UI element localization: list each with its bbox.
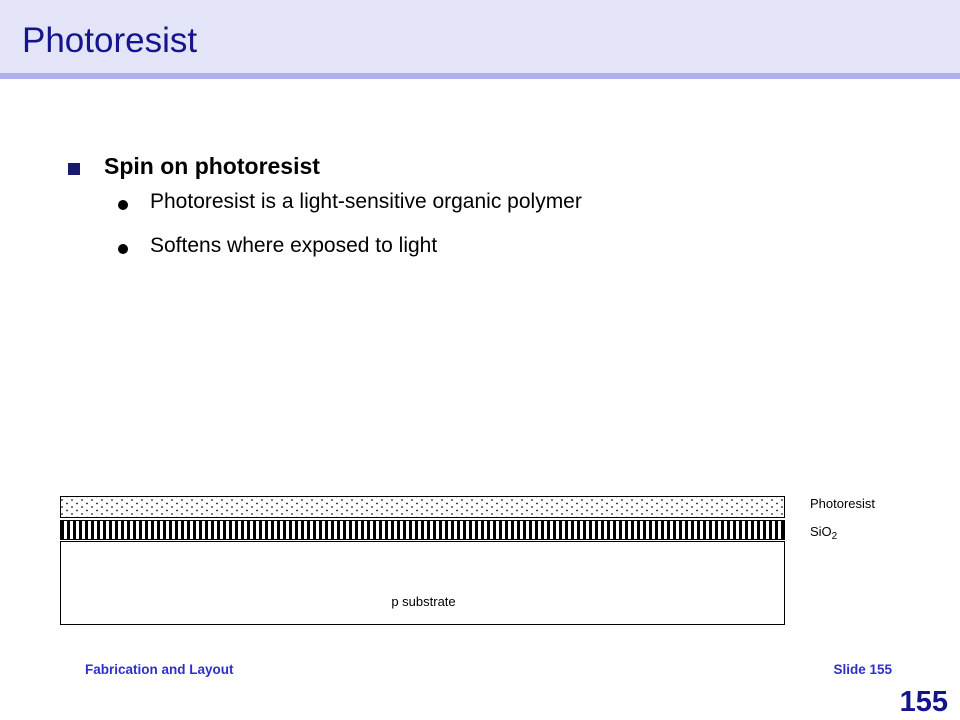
- callout-sio2: SiO2: [810, 524, 837, 542]
- diagram-layer-photoresist: [60, 496, 785, 518]
- footer-right-label: Slide 155: [833, 662, 892, 677]
- bullet-level2-label: Softens where exposed to light: [150, 234, 437, 257]
- callout-sio2-subscript: 2: [832, 531, 838, 542]
- bullet-level2-label: Photoresist is a light-sensitive organic…: [150, 190, 582, 213]
- page-title: Photoresist: [22, 19, 197, 63]
- bullet-item-level1: Spin on photoresist: [0, 150, 960, 186]
- round-bullet-icon: [118, 244, 128, 254]
- header-rule: [0, 73, 960, 79]
- round-bullet-icon: [118, 200, 128, 210]
- substrate-label: p substrate: [61, 594, 786, 609]
- diagram-layer-substrate: p substrate: [60, 541, 785, 625]
- footer-left-label: Fabrication and Layout: [85, 662, 234, 677]
- diagram-layer-sio2: [60, 520, 785, 540]
- bullet-item-level2: Photoresist is a light-sensitive organic…: [0, 186, 960, 230]
- cross-section-diagram: p substrate: [60, 496, 785, 625]
- square-bullet-icon: [68, 163, 80, 175]
- bullet-item-level2: Softens where exposed to light: [0, 230, 960, 274]
- callout-photoresist: Photoresist: [810, 496, 875, 511]
- page-number: 155: [900, 686, 948, 719]
- callout-sio2-text: SiO: [810, 524, 832, 539]
- bullet-level1-label: Spin on photoresist: [104, 153, 320, 179]
- bullet-list: Spin on photoresist Photoresist is a lig…: [0, 150, 960, 274]
